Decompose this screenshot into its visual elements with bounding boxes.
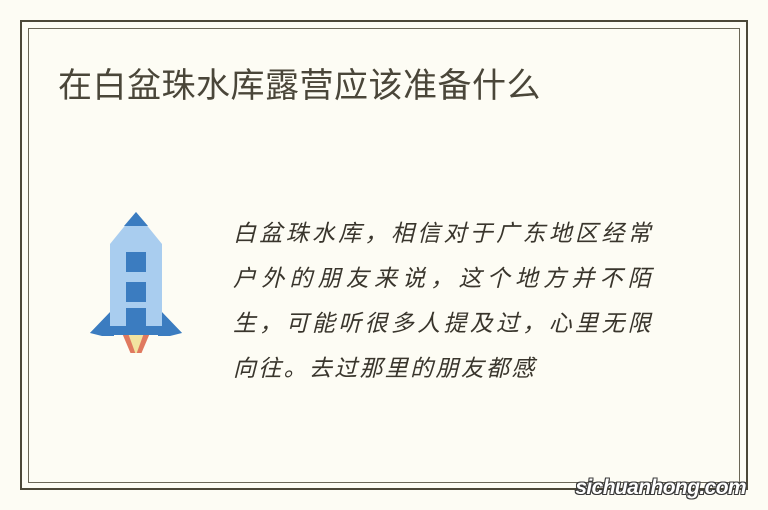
article-body-text: 白盆珠水库，相信对于广东地区经常户外的朋友来说，这个地方并不陌生，可能听很多人提… [233,212,653,392]
rocket-icon [88,208,184,353]
page-title: 在白盆珠水库露营应该准备什么 [58,63,698,109]
site-watermark: sichuanhong.com [575,476,746,500]
